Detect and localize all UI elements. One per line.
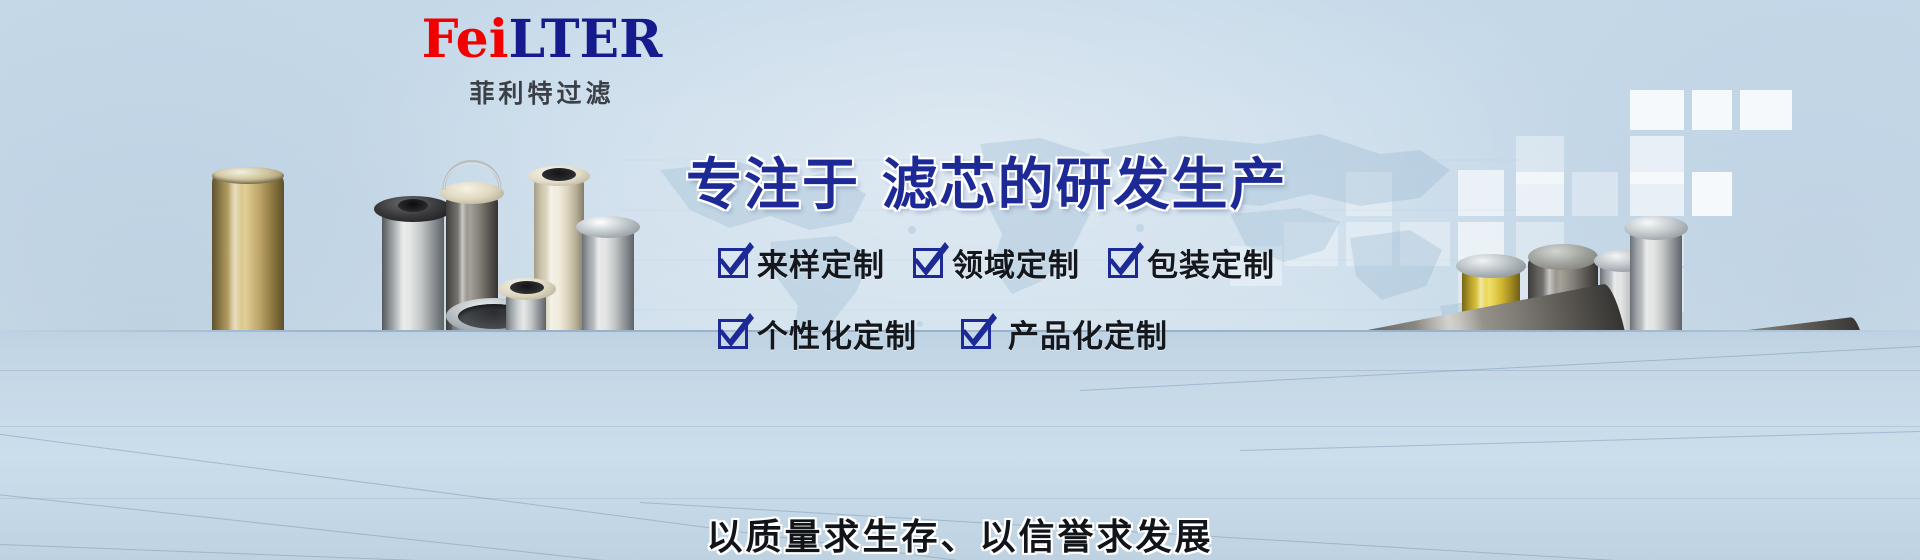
handle-top-cartridge-handle [438, 142, 508, 194]
feature-label: 来样定制 [757, 240, 885, 285]
promo-banner: FeiLTER 菲利特过滤 专注于 滤芯的研发生产 来样定制 [0, 0, 1920, 560]
feature-label: 个性化定制 [757, 311, 917, 356]
checkbox-checked-icon[interactable] [961, 319, 991, 349]
bottom-slogan: 以质量求生存、以信誉求发展 [0, 508, 1920, 560]
cream-collar-cartridge-hole [510, 281, 544, 294]
feature-row-2: 个性化定制 产品化定制 [718, 311, 1418, 356]
feature-item-1[interactable]: 来样定制 [718, 240, 885, 285]
checkbox-checked-icon[interactable] [1108, 248, 1138, 278]
checkbox-checked-icon[interactable] [718, 248, 748, 278]
feature-label: 产品化定制 [1008, 311, 1168, 356]
feature-list: 来样定制 领域定制 包装定制 [718, 240, 1418, 378]
floor-line-horizontal-3 [0, 498, 1920, 499]
logo-wordmark-red: Fei [422, 9, 509, 70]
yellow-pleated-cartridge-cap [1456, 254, 1526, 278]
feature-row-1: 来样定制 领域定制 包装定制 [718, 240, 1418, 285]
page-title: 专注于 滤芯的研发生产 [686, 140, 1288, 221]
checkbox-checked-icon[interactable] [913, 248, 943, 278]
feature-item-3[interactable]: 包装定制 [1108, 240, 1275, 285]
checkbox-checked-icon[interactable] [718, 319, 748, 349]
black-cap-center-hole [398, 199, 428, 212]
perforated-brass-cartridge-cap [212, 167, 284, 184]
feature-item-4[interactable]: 个性化定制 [718, 311, 917, 356]
feature-item-5[interactable]: 产品化定制 [961, 311, 1168, 356]
feature-label: 领域定制 [952, 240, 1080, 285]
dark-mesh-hex-cartridge-hex [1528, 244, 1598, 270]
logo-chinese-name: 菲利特过滤 [392, 74, 692, 110]
floor-line-diagonal-5 [1240, 429, 1920, 451]
feature-label: 包装定制 [1147, 240, 1275, 285]
logo-wordmark-blue: LTER [509, 9, 663, 70]
logo-wordmark: FeiLTER [392, 14, 692, 66]
steel-ring-cartridge-ring [576, 216, 640, 238]
cream-top-pleated-cartridge-hole [542, 168, 576, 181]
company-logo[interactable]: FeiLTER 菲利特过滤 [392, 14, 692, 110]
feature-item-2[interactable]: 领域定制 [913, 240, 1080, 285]
steel-pleated-cartridge-tall-cap [1624, 216, 1688, 240]
floor-line-horizontal-2 [0, 426, 1920, 427]
